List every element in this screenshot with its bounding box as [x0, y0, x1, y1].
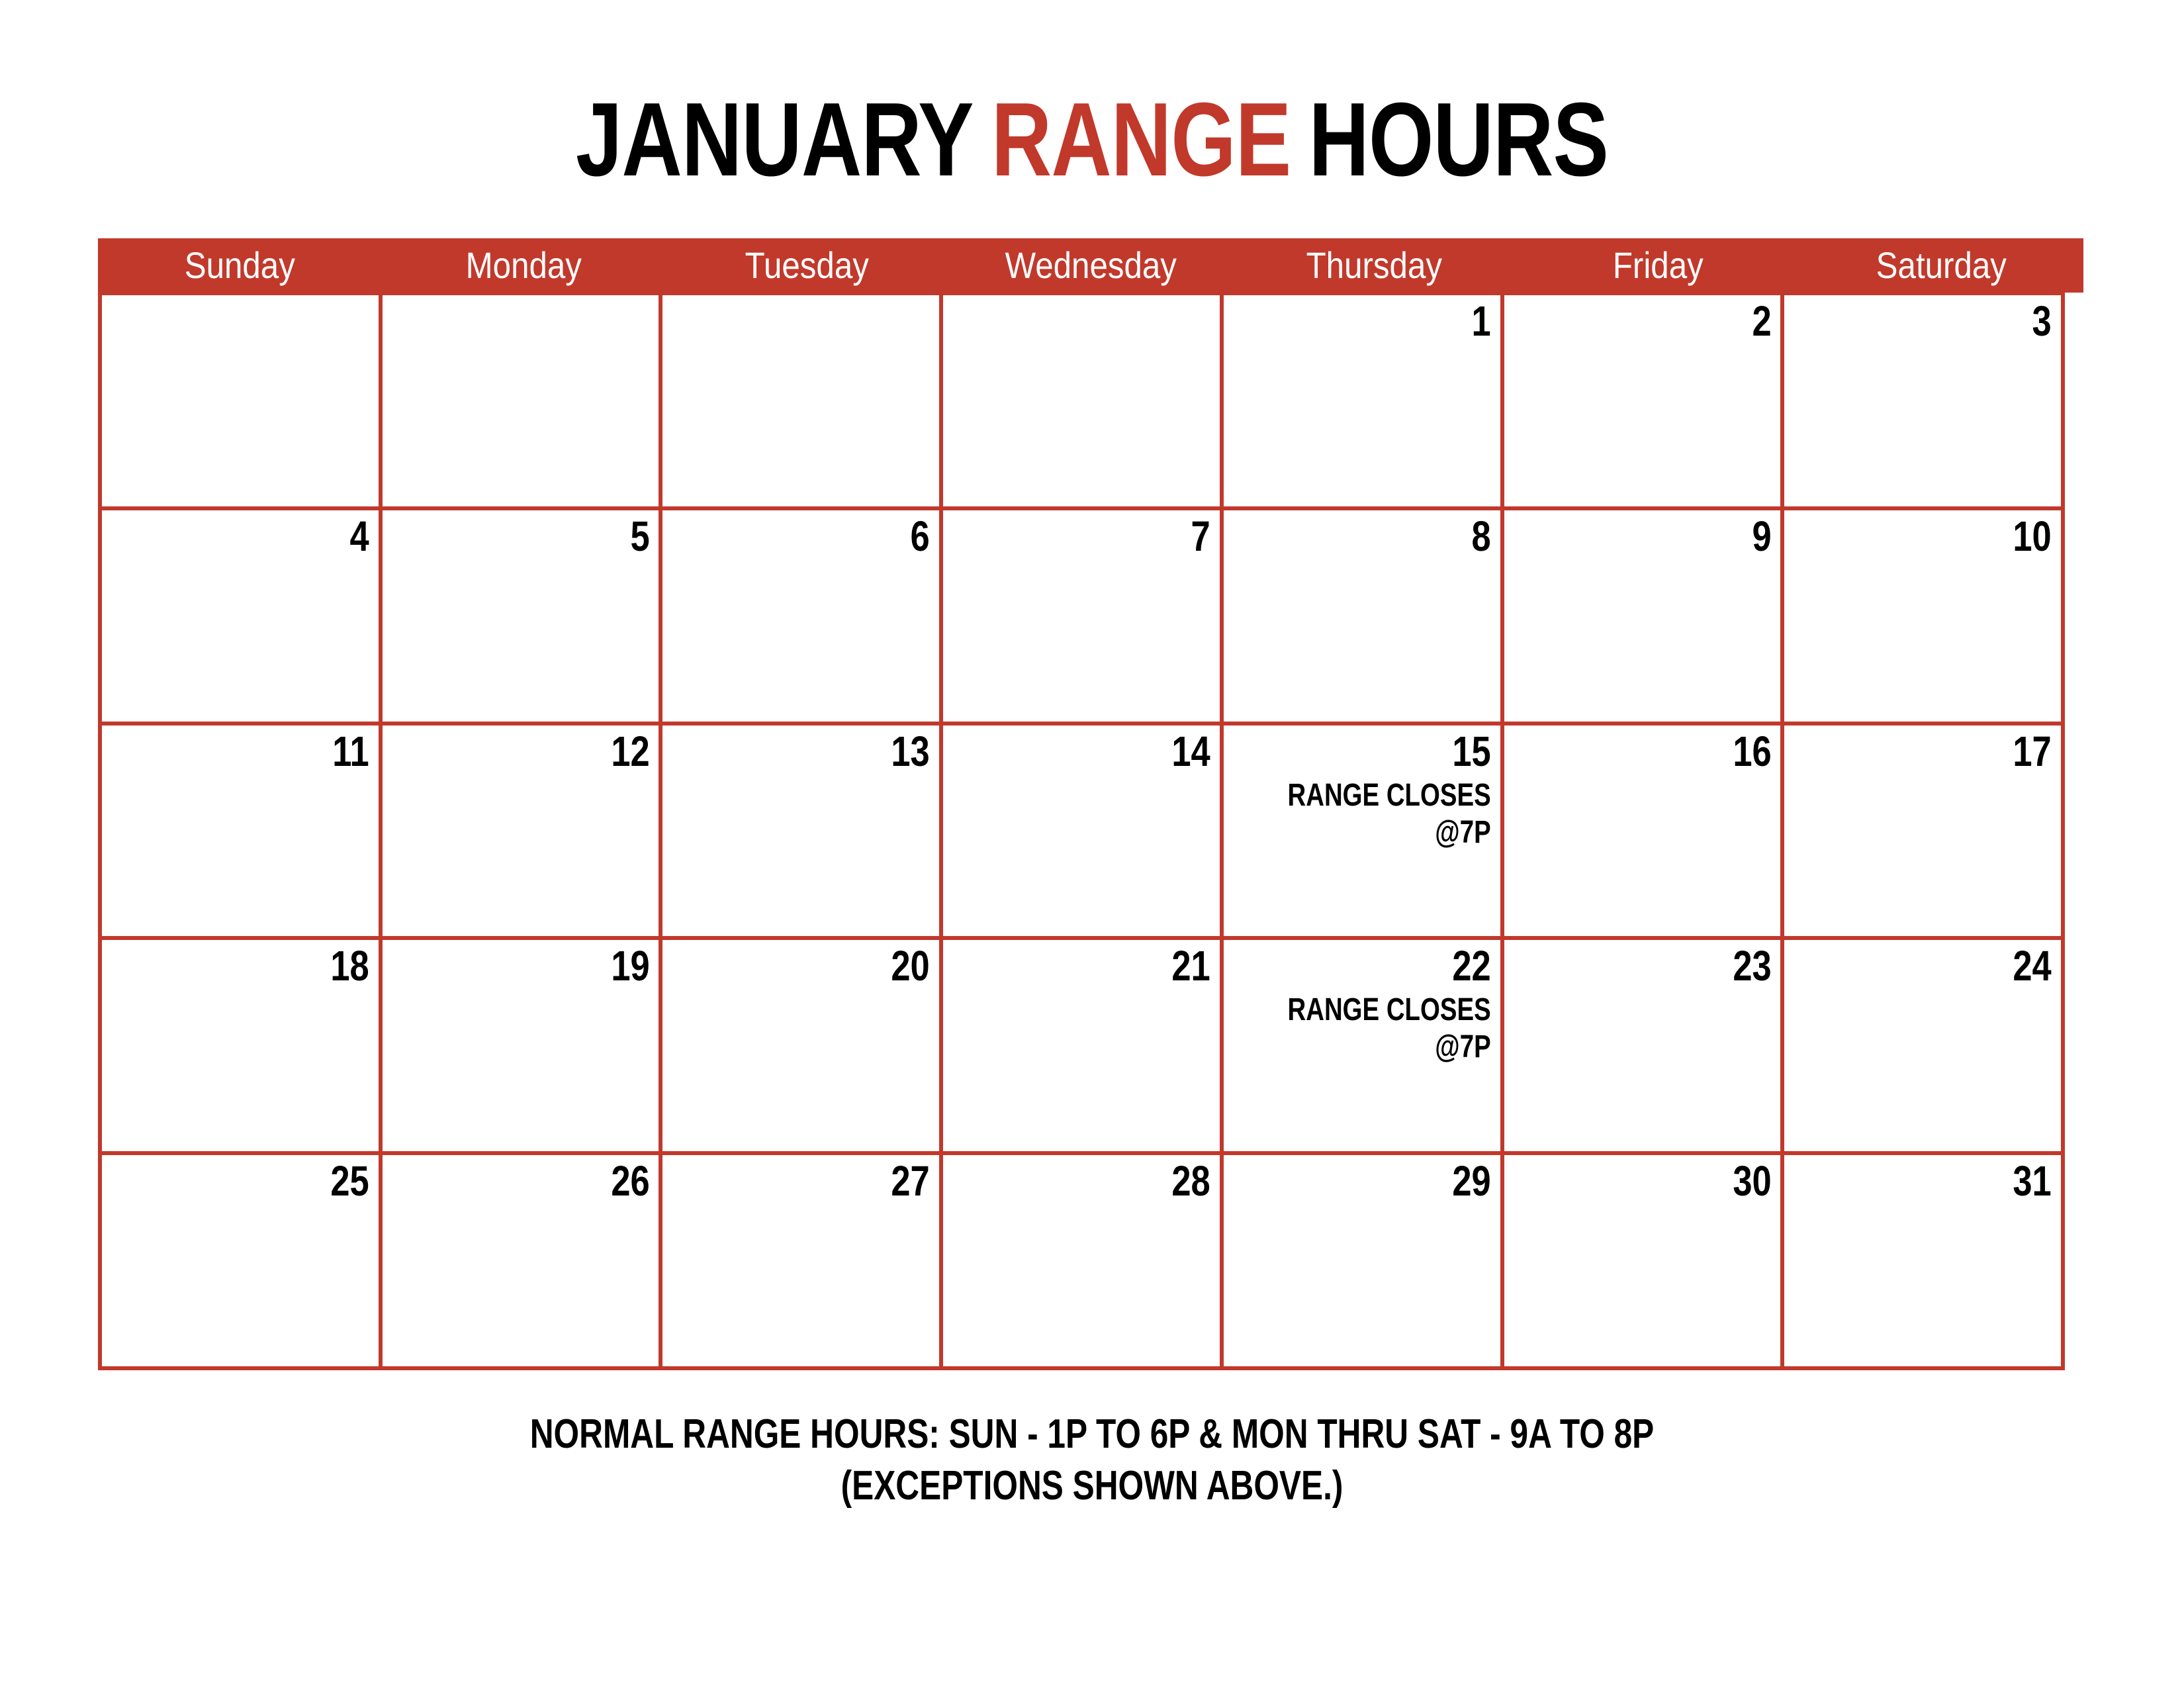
day-cell-20[interactable]: 20 — [662, 940, 943, 1155]
day-cell-5[interactable]: 5 — [383, 510, 663, 726]
day-cell-1[interactable]: 1 — [1224, 295, 1504, 510]
day-cell-14[interactable]: 14 — [943, 726, 1224, 941]
day-cell-empty[interactable] — [383, 295, 663, 510]
day-number: 25 — [156, 1159, 369, 1203]
day-cell-23[interactable]: 23 — [1504, 940, 1785, 1155]
day-cell-24[interactable]: 24 — [1784, 940, 2065, 1155]
day-cell-2[interactable]: 2 — [1504, 295, 1785, 510]
weekday-header-wednesday: Wednesday — [966, 238, 1215, 293]
day-number: 8 — [1277, 514, 1491, 558]
day-number: 18 — [156, 944, 369, 988]
day-number: 31 — [1838, 1159, 2052, 1203]
day-number: 21 — [997, 944, 1210, 988]
day-cell-15[interactable]: 15RANGE CLOSES @7P — [1224, 726, 1504, 941]
title-word-month: JANUARY — [576, 81, 974, 198]
page-title: JANUARYRANGEHOURS — [218, 87, 1966, 192]
day-number: 3 — [1838, 299, 2052, 343]
day-number: 9 — [1557, 514, 1771, 558]
weekday-label: Saturday — [1876, 247, 2007, 284]
weekday-header-thursday: Thursday — [1250, 238, 1499, 293]
day-cell-10[interactable]: 10 — [1784, 510, 2065, 726]
day-number: 13 — [716, 729, 930, 773]
day-number: 11 — [156, 729, 369, 773]
day-cell-12[interactable]: 12 — [383, 726, 663, 941]
day-number: 10 — [1838, 514, 2052, 558]
day-cell-30[interactable]: 30 — [1504, 1155, 1785, 1370]
day-number: 26 — [436, 1159, 650, 1203]
weekday-header-monday: Monday — [398, 238, 648, 293]
day-cell-empty[interactable] — [102, 295, 383, 510]
day-number: 12 — [436, 729, 650, 773]
day-cell-29[interactable]: 29 — [1224, 1155, 1504, 1370]
footer-note: NORMAL RANGE HOURS: SUN - 1P TO 6P & MON… — [0, 1409, 2184, 1512]
day-cell-19[interactable]: 19 — [383, 940, 663, 1155]
weekday-header-sunday: Sunday — [115, 238, 365, 293]
day-cell-8[interactable]: 8 — [1224, 510, 1504, 726]
weekday-header-row: SundayMondayTuesdayWednesdayThursdayFrid… — [98, 238, 2083, 293]
title-word-range: RANGE — [991, 81, 1291, 198]
calendar-grid: 123456789101112131415RANGE CLOSES @7P161… — [98, 291, 2065, 1370]
day-cell-6[interactable]: 6 — [662, 510, 943, 726]
day-event-text: RANGE CLOSES @7P — [1283, 992, 1491, 1066]
day-cell-empty[interactable] — [662, 295, 943, 510]
day-cell-18[interactable]: 18 — [102, 940, 383, 1155]
weekday-label: Thursday — [1306, 247, 1442, 284]
day-cell-28[interactable]: 28 — [943, 1155, 1224, 1370]
weekday-label: Monday — [465, 247, 581, 284]
day-number: 14 — [997, 729, 1210, 773]
day-cell-11[interactable]: 11 — [102, 726, 383, 941]
day-number: 19 — [436, 944, 650, 988]
footer-line-exceptions: (EXCEPTIONS SHOWN ABOVE.) — [218, 1460, 1966, 1512]
weekday-header-tuesday: Tuesday — [682, 238, 932, 293]
weekday-label: Friday — [1613, 247, 1704, 284]
day-number: 15 — [1277, 729, 1491, 773]
weekday-label: Wednesday — [1005, 247, 1176, 284]
day-number: 30 — [1557, 1159, 1771, 1203]
day-number: 24 — [1838, 944, 2052, 988]
day-number: 23 — [1557, 944, 1771, 988]
day-cell-7[interactable]: 7 — [943, 510, 1224, 726]
weekday-header-friday: Friday — [1533, 238, 1783, 293]
day-number: 5 — [436, 514, 650, 558]
weekday-header-saturday: Saturday — [1817, 238, 2066, 293]
day-cell-13[interactable]: 13 — [662, 726, 943, 941]
day-number: 17 — [1838, 729, 2052, 773]
day-number: 7 — [997, 514, 1210, 558]
day-cell-22[interactable]: 22RANGE CLOSES @7P — [1224, 940, 1504, 1155]
day-number: 6 — [716, 514, 930, 558]
day-cell-9[interactable]: 9 — [1504, 510, 1785, 726]
day-number: 1 — [1277, 299, 1491, 343]
day-cell-25[interactable]: 25 — [102, 1155, 383, 1370]
day-number: 28 — [997, 1159, 1210, 1203]
day-cell-17[interactable]: 17 — [1784, 726, 2065, 941]
day-number: 27 — [716, 1159, 930, 1203]
day-number: 22 — [1277, 944, 1491, 988]
day-cell-empty[interactable] — [943, 295, 1224, 510]
weekday-label: Tuesday — [745, 247, 869, 284]
weekday-label: Sunday — [185, 247, 295, 284]
day-number: 20 — [716, 944, 930, 988]
day-number: 4 — [156, 514, 369, 558]
footer-line-normal-hours: NORMAL RANGE HOURS: SUN - 1P TO 6P & MON… — [218, 1409, 1966, 1460]
day-cell-21[interactable]: 21 — [943, 940, 1224, 1155]
day-number: 29 — [1277, 1159, 1491, 1203]
day-number: 16 — [1557, 729, 1771, 773]
title-word-hours: HOURS — [1309, 81, 1608, 198]
day-cell-3[interactable]: 3 — [1784, 295, 2065, 510]
day-number: 2 — [1557, 299, 1771, 343]
day-cell-26[interactable]: 26 — [383, 1155, 663, 1370]
day-cell-31[interactable]: 31 — [1784, 1155, 2065, 1370]
day-cell-27[interactable]: 27 — [662, 1155, 943, 1370]
day-cell-16[interactable]: 16 — [1504, 726, 1785, 941]
day-cell-4[interactable]: 4 — [102, 510, 383, 726]
day-event-text: RANGE CLOSES @7P — [1283, 777, 1491, 851]
